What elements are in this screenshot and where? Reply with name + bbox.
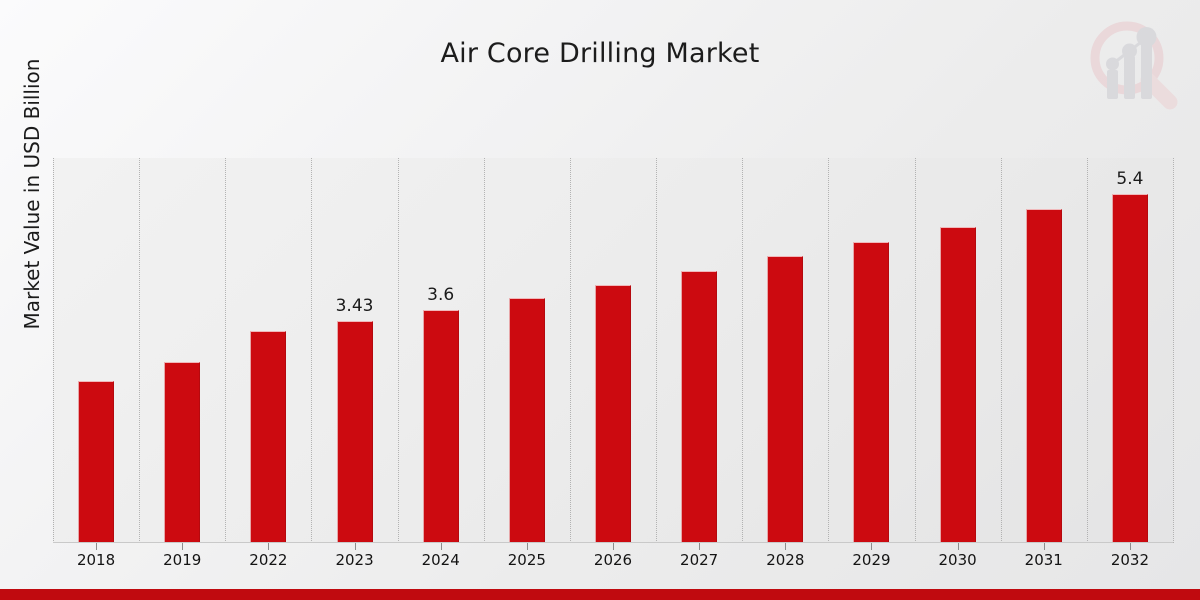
bar bbox=[164, 362, 200, 543]
gridline bbox=[570, 158, 572, 543]
x-axis-tick-label: 2018 bbox=[56, 551, 136, 569]
bar bbox=[250, 331, 286, 543]
page-title: Air Core Drilling Market bbox=[0, 38, 1200, 69]
gridline bbox=[139, 158, 141, 543]
x-axis-tick bbox=[355, 543, 356, 550]
x-axis-tick-label: 2026 bbox=[573, 551, 653, 569]
bar-value-label: 5.4 bbox=[1090, 169, 1170, 189]
gridline bbox=[828, 158, 830, 543]
x-axis-tick-label: 2029 bbox=[831, 551, 911, 569]
bar bbox=[595, 285, 631, 543]
x-axis-tick-label: 2025 bbox=[487, 551, 567, 569]
x-axis-tick-label: 2031 bbox=[1004, 551, 1084, 569]
gridline bbox=[1087, 158, 1089, 543]
bar bbox=[853, 242, 889, 543]
gridline bbox=[915, 158, 917, 543]
bar bbox=[767, 256, 803, 543]
bar bbox=[1112, 194, 1148, 543]
gridline bbox=[1173, 158, 1175, 543]
x-axis-tick bbox=[1044, 543, 1045, 550]
gridline bbox=[1001, 158, 1003, 543]
x-axis-tick bbox=[699, 543, 700, 550]
chart-figure: Air Core Drilling Market Market Value in… bbox=[0, 0, 1200, 600]
gridline bbox=[484, 158, 486, 543]
x-axis-tick-label: 2024 bbox=[401, 551, 481, 569]
x-axis-tick bbox=[268, 543, 269, 550]
bar bbox=[1026, 209, 1062, 543]
x-axis-tick-label: 2028 bbox=[745, 551, 825, 569]
x-axis-tick bbox=[441, 543, 442, 550]
gridline bbox=[742, 158, 744, 543]
x-axis-tick bbox=[958, 543, 959, 550]
gridline bbox=[311, 158, 313, 543]
x-axis-tick-label: 2019 bbox=[142, 551, 222, 569]
gridline bbox=[398, 158, 400, 543]
bar bbox=[509, 298, 545, 543]
x-axis-tick bbox=[871, 543, 872, 550]
x-axis-tick bbox=[613, 543, 614, 550]
x-axis-tick-label: 2022 bbox=[228, 551, 308, 569]
x-axis-tick-label: 2030 bbox=[918, 551, 998, 569]
y-axis-line bbox=[53, 158, 55, 543]
x-axis-tick-label: 2023 bbox=[315, 551, 395, 569]
plot-area bbox=[53, 158, 1173, 543]
bar bbox=[423, 310, 459, 543]
x-axis-tick bbox=[96, 543, 97, 550]
x-axis-tick-label: 2027 bbox=[659, 551, 739, 569]
bar bbox=[681, 271, 717, 543]
bar bbox=[940, 227, 976, 543]
bar bbox=[78, 381, 114, 543]
x-axis-tick bbox=[182, 543, 183, 550]
x-axis-tick-label: 2032 bbox=[1090, 551, 1170, 569]
y-axis-title: Market Value in USD Billion bbox=[20, 0, 44, 394]
bar-value-label: 3.43 bbox=[315, 296, 395, 316]
gridline bbox=[225, 158, 227, 543]
bottom-accent-band bbox=[0, 589, 1200, 600]
bar bbox=[337, 321, 373, 543]
bar-value-label: 3.6 bbox=[401, 285, 481, 305]
x-axis-tick bbox=[527, 543, 528, 550]
x-axis-tick bbox=[1130, 543, 1131, 550]
gridline bbox=[656, 158, 658, 543]
x-axis-tick bbox=[785, 543, 786, 550]
